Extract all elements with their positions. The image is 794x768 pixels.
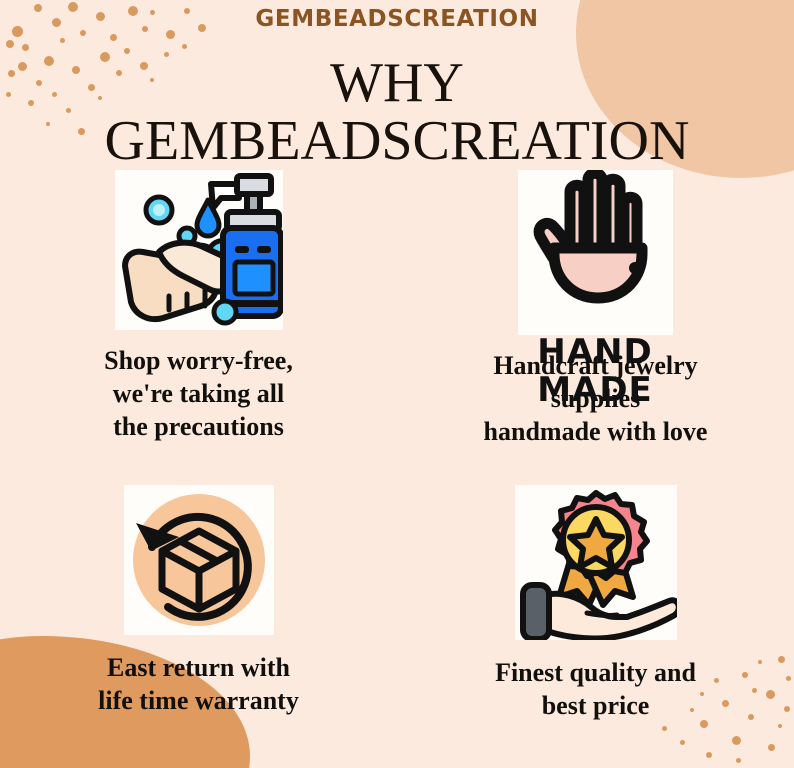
page-title: WHY GEMBEADSCREATION [0,54,794,170]
confetti-dot [22,44,29,51]
feature-grid: Shop worry-free, we're taking all the pr… [0,170,794,768]
promo-poster: GEMBEADSCREATION WHY GEMBEADSCREATION [0,0,794,768]
quality-badge-icon [515,485,677,640]
confetti-dot [182,44,187,49]
caption-line: best price [397,689,794,722]
caption-line: handmade with love [397,415,794,448]
feature-quality-price: Finest quality and best price [397,485,794,722]
feature-shipping-safety: Shop worry-free, we're taking all the pr… [0,170,397,443]
caption-line: East return with [0,651,397,684]
return-box-icon [124,485,274,635]
confetti-dot [60,38,65,43]
feature-caption: Finest quality and best price [397,656,794,722]
feature-caption: East return with life time warranty [0,651,397,717]
confetti-dot [110,34,117,41]
caption-line: Finest quality and [397,656,794,689]
brand-name: GEMBEADSCREATION [0,6,794,32]
handmade-text-line-1: HAND [537,332,652,372]
handmade-icon: HAND MADE [518,170,673,335]
page-title-line-2: GEMBEADSCREATION [0,112,794,170]
confetti-dot [6,40,14,48]
caption-line: we're taking all [0,377,397,410]
handwashing-icon [115,170,283,330]
feature-caption: Shop worry-free, we're taking all the pr… [0,344,397,443]
handmade-text-line-2: MADE [537,370,653,409]
feature-handmade: HAND MADE Handcraft jewelry supplies han… [397,170,794,448]
caption-line: the precautions [0,410,397,443]
caption-line: life time warranty [0,684,397,717]
feature-returns-warranty: East return with life time warranty [0,485,397,717]
caption-line: Shop worry-free, [0,344,397,377]
page-title-line-1: WHY [0,54,794,112]
